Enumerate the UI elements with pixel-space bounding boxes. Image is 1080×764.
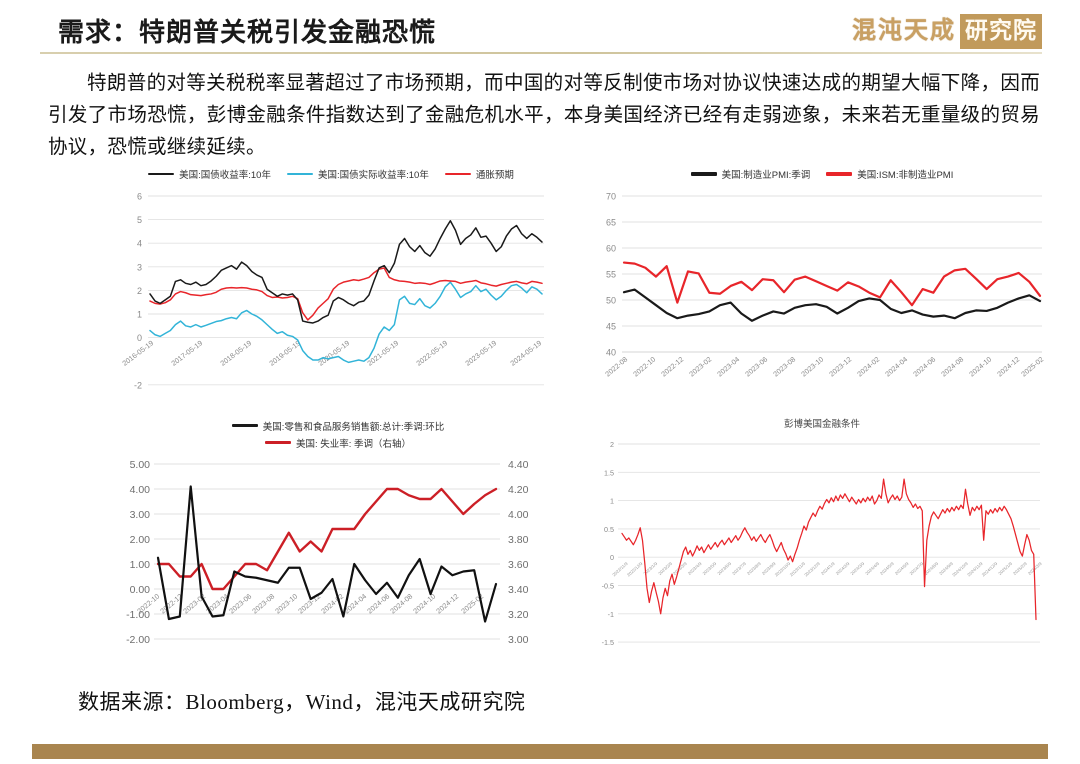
bfci-x-tick-label: 2025/2/9 xyxy=(1012,561,1028,576)
svg-text:3.20: 3.20 xyxy=(508,609,529,621)
bfci-gridlines xyxy=(618,444,1040,642)
svg-text:70: 70 xyxy=(606,192,616,202)
retail-y-right-ticks: 4.40 4.20 4.00 3.80 3.60 3.40 3.20 3.00 xyxy=(508,459,529,646)
svg-text:2023-04: 2023-04 xyxy=(715,355,741,379)
bfci-x-tick-label: 2023/4/9 xyxy=(687,561,703,576)
svg-text:2024-10: 2024-10 xyxy=(411,592,437,616)
bfci-x-tick-label: 2023/5/9 xyxy=(702,561,718,576)
yields-x-ticks: 2016-05-19 2017-05-19 2018-05-19 2019-05… xyxy=(120,338,543,367)
bfci-x-tick-label: 2024/5/9 xyxy=(879,561,895,576)
svg-text:2024-12: 2024-12 xyxy=(995,355,1021,379)
bfci-x-tick-label: 2023/12/9 xyxy=(803,561,821,578)
svg-text:2025-02: 2025-02 xyxy=(1019,355,1045,379)
svg-text:0.5: 0.5 xyxy=(604,525,614,534)
bfci-x-tick-label: 2024/3/9 xyxy=(849,561,865,576)
svg-text:50: 50 xyxy=(606,296,616,306)
svg-text:45: 45 xyxy=(606,322,616,332)
svg-text:4.20: 4.20 xyxy=(508,484,529,496)
svg-text:1: 1 xyxy=(610,497,614,506)
legend-item-1: 美国:国债实际收益率:10年 xyxy=(287,167,429,181)
legend-label-0: 美国:国债收益率:10年 xyxy=(179,167,271,181)
svg-text:2023-08: 2023-08 xyxy=(250,592,276,616)
svg-text:2: 2 xyxy=(137,286,142,296)
chart-retail-unemployment: 美国:零售和食品服务销售额:总计:季调:环比 美国: 失业率: 季调（右轴） 5… xyxy=(112,414,564,676)
retail-y-left-ticks: 5.00 4.00 3.00 2.00 1.00 0.00 -1.00 -2.0… xyxy=(126,459,150,646)
svg-text:2022-05-19: 2022-05-19 xyxy=(414,338,449,367)
pmi-x-ticks: 2022-08 2022-10 2022-12 2023-02 2023-04 … xyxy=(603,355,1045,379)
svg-text:-1: -1 xyxy=(608,610,614,619)
svg-text:3.00: 3.00 xyxy=(508,634,529,646)
legend-item-1: 美国:ISM:非制造业PMI xyxy=(826,167,953,181)
bfci-x-ticks: 2022/11/92022/12/92023/1/92023/2/92023/3… xyxy=(611,561,1043,578)
slide-header: 需求：特朗普关税引发金融恐慌 混沌天成 研究院 xyxy=(0,0,1080,60)
legend-label-0: 美国:零售和食品服务销售额:总计:季调:环比 xyxy=(263,419,445,433)
chart-retail-canvas: 5.00 4.00 3.00 2.00 1.00 0.00 -1.00 -2.0… xyxy=(112,454,564,672)
svg-text:2022-08: 2022-08 xyxy=(603,355,629,379)
bfci-series-group xyxy=(622,479,1036,619)
svg-text:3.80: 3.80 xyxy=(508,534,529,546)
svg-text:65: 65 xyxy=(606,218,616,228)
bfci-x-tick-label: 2025/1/9 xyxy=(997,561,1013,576)
legend-swatch-red xyxy=(826,172,852,175)
legend-item-0: 美国:零售和食品服务销售额:总计:季调:环比 xyxy=(232,419,445,433)
chart-yields-legend: 美国:国债收益率:10年 美国:国债实际收益率:10年 通胀预期 xyxy=(112,164,550,184)
svg-text:5.00: 5.00 xyxy=(130,459,151,471)
svg-text:5: 5 xyxy=(137,215,142,225)
bfci-x-tick-label: 2024/12/9 xyxy=(981,561,999,578)
footer-bar xyxy=(32,744,1048,759)
svg-text:2024-05-19: 2024-05-19 xyxy=(508,338,543,367)
legend-swatch-cyan xyxy=(287,173,313,175)
bfci-y-ticks: 2 1.5 1 0.5 0 -0.5 -1 -1.5 xyxy=(602,440,614,647)
legend-item-0: 美国:制造业PMI:季调 xyxy=(691,167,811,181)
legend-item-1: 美国: 失业率: 季调（右轴） xyxy=(265,436,411,450)
svg-text:60: 60 xyxy=(606,244,616,254)
svg-text:2024-08: 2024-08 xyxy=(939,355,965,379)
svg-text:2022-10: 2022-10 xyxy=(631,355,657,379)
svg-text:2023-12: 2023-12 xyxy=(827,355,853,379)
svg-text:2023-10: 2023-10 xyxy=(273,592,299,616)
chart-yields-canvas: 6 5 4 3 2 1 0 -2 2016-05-19 2017-05-19 2… xyxy=(112,184,550,406)
svg-text:-0.5: -0.5 xyxy=(602,582,614,591)
chart-bfci-title: 彭博美国金融条件 xyxy=(592,414,1052,436)
svg-text:0: 0 xyxy=(137,333,142,343)
logo-box-text: 研究院 xyxy=(960,14,1042,49)
svg-text:2024-06: 2024-06 xyxy=(365,592,391,616)
svg-text:-2: -2 xyxy=(134,380,142,390)
chart-pmi-canvas: 70 65 60 55 50 45 40 2022-08 2022-10 202… xyxy=(592,184,1052,406)
svg-text:0.00: 0.00 xyxy=(130,584,151,596)
bfci-x-tick-label: 2024/4/9 xyxy=(864,561,880,576)
svg-text:0: 0 xyxy=(610,553,614,562)
bfci-x-tick-label: 2024/1/9 xyxy=(820,561,836,576)
svg-text:3: 3 xyxy=(137,262,142,272)
bfci-x-tick-label: 2023/7/9 xyxy=(731,561,747,576)
pmi-y-ticks: 70 65 60 55 50 45 40 xyxy=(606,192,616,358)
pmi-gridlines xyxy=(622,196,1042,352)
svg-text:3.00: 3.00 xyxy=(130,509,151,521)
logo-seal-text: 混沌天成 xyxy=(852,14,956,48)
header-divider xyxy=(40,52,1042,54)
svg-text:6: 6 xyxy=(137,192,142,202)
svg-text:2024-12: 2024-12 xyxy=(434,592,460,616)
svg-text:2017-05-19: 2017-05-19 xyxy=(169,338,204,367)
svg-text:40: 40 xyxy=(606,348,616,358)
svg-text:2024-10: 2024-10 xyxy=(967,355,993,379)
svg-text:-2.00: -2.00 xyxy=(126,634,150,646)
bfci-x-tick-label: 2023/6/9 xyxy=(716,561,732,576)
bfci-x-tick-label: 2024/2/9 xyxy=(835,561,851,576)
svg-text:4.00: 4.00 xyxy=(130,484,151,496)
slide: 需求：特朗普关税引发金融恐慌 混沌天成 研究院 特朗普的对等关税税率显著超过了市… xyxy=(0,0,1080,764)
svg-text:2020-05-19: 2020-05-19 xyxy=(316,338,351,367)
bfci-x-tick-label: 2023/8/9 xyxy=(746,561,762,576)
svg-text:2018-05-19: 2018-05-19 xyxy=(218,338,253,367)
svg-text:1.00: 1.00 xyxy=(130,559,151,571)
svg-text:2: 2 xyxy=(610,440,614,449)
svg-text:3.40: 3.40 xyxy=(508,584,529,596)
svg-text:-1.5: -1.5 xyxy=(602,638,614,647)
legend-swatch-black xyxy=(148,173,174,175)
svg-text:2023-02: 2023-02 xyxy=(181,592,207,616)
svg-text:1.5: 1.5 xyxy=(604,468,614,477)
legend-swatch-red xyxy=(265,441,291,444)
bfci-x-tick-label: 2024/6/9 xyxy=(894,561,910,576)
data-source-note: 数据来源：Bloomberg，Wind，混沌天成研究院 xyxy=(78,686,525,716)
legend-label-1: 美国: 失业率: 季调（右轴） xyxy=(296,436,411,450)
legend-item-2: 通胀预期 xyxy=(445,167,514,181)
svg-text:4.40: 4.40 xyxy=(508,459,529,471)
bfci-x-tick-label: 2023/2/9 xyxy=(657,561,673,576)
svg-text:3.60: 3.60 xyxy=(508,559,529,571)
legend-swatch-red xyxy=(445,173,471,175)
svg-text:1: 1 xyxy=(137,310,142,320)
svg-text:2023-08: 2023-08 xyxy=(771,355,797,379)
svg-text:2023-02: 2023-02 xyxy=(687,355,713,379)
page-title: 需求：特朗普关税引发金融恐慌 xyxy=(58,12,436,49)
svg-text:2024-08: 2024-08 xyxy=(388,592,414,616)
bfci-x-tick-label: 2022/12/9 xyxy=(626,561,644,578)
svg-text:2023-06: 2023-06 xyxy=(743,355,769,379)
legend-item-0: 美国:国债收益率:10年 xyxy=(148,167,271,181)
bfci-x-tick-label: 2024/7/9 xyxy=(909,561,925,576)
chart-bfci-canvas: 2 1.5 1 0.5 0 -0.5 -1 -1.5 2022/11/92022… xyxy=(592,436,1052,672)
chart-retail-legend: 美国:零售和食品服务销售额:总计:季调:环比 美国: 失业率: 季调（右轴） xyxy=(112,414,564,454)
legend-label-1: 美国:国债实际收益率:10年 xyxy=(318,167,429,181)
svg-text:4: 4 xyxy=(137,239,142,249)
svg-text:2024-04: 2024-04 xyxy=(883,355,909,379)
svg-text:2019-05-19: 2019-05-19 xyxy=(267,338,302,367)
svg-text:55: 55 xyxy=(606,270,616,280)
svg-text:2023-10: 2023-10 xyxy=(799,355,825,379)
body-paragraph: 特朗普的对等关税税率显著超过了市场预期，而中国的对等反制使市场对协议快速达成的期… xyxy=(48,68,1040,164)
legend-label-0: 美国:制造业PMI:季调 xyxy=(722,167,811,181)
legend-swatch-black xyxy=(691,172,717,175)
svg-text:2023-06: 2023-06 xyxy=(227,592,253,616)
chart-pmi-legend: 美国:制造业PMI:季调 美国:ISM:非制造业PMI xyxy=(592,164,1052,184)
company-logo: 混沌天成 研究院 xyxy=(852,12,1042,50)
svg-text:2024-02: 2024-02 xyxy=(855,355,881,379)
chart-bloomberg-financial-conditions: 彭博美国金融条件 2 1.5 1 0.5 0 -0.5 -1 -1.5 xyxy=(592,414,1052,676)
svg-text:4.00: 4.00 xyxy=(508,509,529,521)
svg-text:2024-06: 2024-06 xyxy=(911,355,937,379)
legend-label-2: 通胀预期 xyxy=(476,167,514,181)
svg-text:2.00: 2.00 xyxy=(130,534,151,546)
svg-text:2023-05-19: 2023-05-19 xyxy=(463,338,498,367)
svg-text:2022-12: 2022-12 xyxy=(659,355,685,379)
legend-swatch-black xyxy=(232,424,258,427)
legend-label-1: 美国:ISM:非制造业PMI xyxy=(857,167,953,181)
pmi-series-group xyxy=(624,263,1040,321)
chart-pmi: 美国:制造业PMI:季调 美国:ISM:非制造业PMI 70 65 60 55 … xyxy=(592,164,1052,409)
chart-treasury-yields: 美国:国债收益率:10年 美国:国债实际收益率:10年 通胀预期 6 5 4 3… xyxy=(112,164,550,409)
